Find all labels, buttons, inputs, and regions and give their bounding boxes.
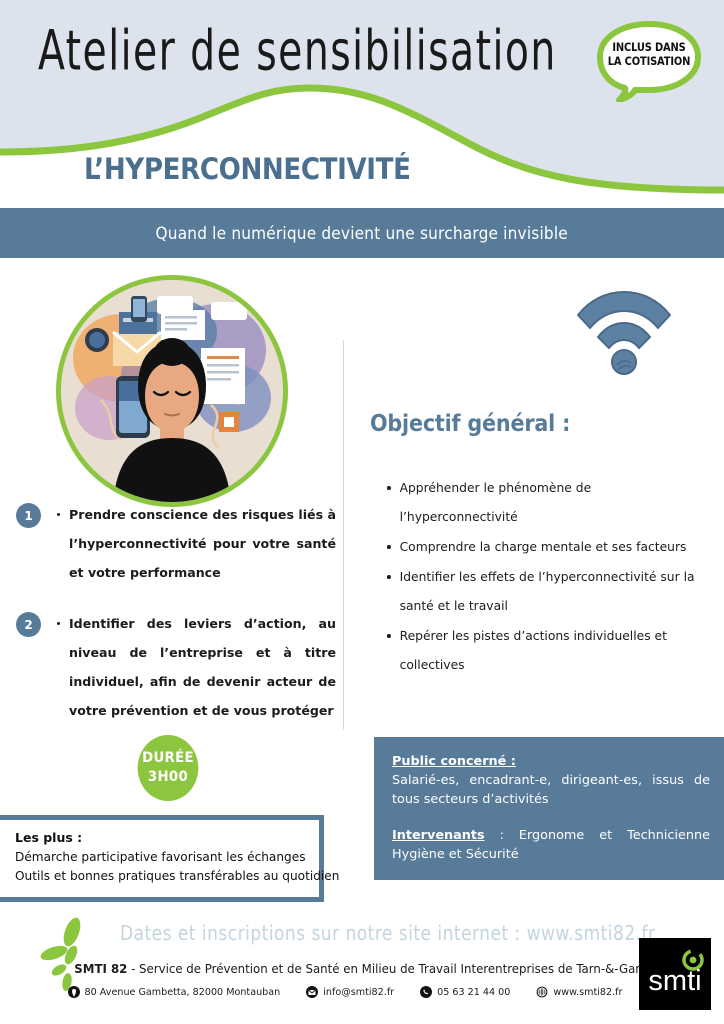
goal-item: Comprendre la charge mentale et ses fact… <box>386 532 696 561</box>
les-plus-title: Les plus : <box>15 830 307 845</box>
objective-text: Prendre conscience des risques liés à l’… <box>57 500 336 587</box>
public-concerne-box: Public concerné : Salarié-es, encadrant-… <box>374 737 724 880</box>
duration-value: 3H00 <box>148 768 188 787</box>
svg-text:smti: smti <box>648 965 701 997</box>
objective-number-badge: 2 <box>16 612 41 637</box>
contact-email[interactable]: info@smti82.fr <box>306 986 394 998</box>
goal-item: Repérer les pistes d’actions individuell… <box>386 621 696 679</box>
duration-badge: DURÉE 3H00 <box>138 735 199 801</box>
green-leaf-decoration <box>34 915 96 993</box>
wifi-icon <box>566 283 682 379</box>
badge-line-2: LA COTISATION <box>603 54 696 68</box>
intervenants-line: Intervenants : Ergonome et Technicienne … <box>392 826 710 864</box>
les-plus-line: Démarche participative favorisant les éc… <box>15 847 298 866</box>
footer-org-line: SMTI 82 - Service de Prévention et de Sa… <box>74 961 616 976</box>
smti-logo: smti <box>639 938 711 1010</box>
objectif-general-list: Appréhender le phénomène de l’hyperconne… <box>386 473 706 680</box>
subtitle-bar: Quand le numérique devient une surcharge… <box>0 208 724 258</box>
contact-email-text: info@smti82.fr <box>323 987 394 998</box>
envelope-icon <box>306 986 318 998</box>
globe-icon <box>536 986 548 998</box>
contact-website[interactable]: www.smti82.fr <box>536 986 622 998</box>
public-concerne-body: Salarié-es, encadrant-e, dirigeant-es, i… <box>392 771 710 809</box>
phone-icon <box>420 986 432 998</box>
hyperconnectivity-illustration <box>56 275 288 507</box>
goal-item: Identifier les effets de l’hyperconnecti… <box>386 562 696 620</box>
les-plus-box: Les plus : Démarche participative favori… <box>0 815 324 902</box>
contact-address-text: 80 Avenue Gambetta, 82000 Montauban <box>85 987 281 998</box>
intervenants-label: Intervenants <box>392 828 485 843</box>
column-divider <box>343 340 344 730</box>
contact-website-text: www.smti82.fr <box>553 987 622 998</box>
objective-item: 2 Identifier des leviers d’action, au ni… <box>16 609 336 725</box>
badge-line-1: INCLUS DANS <box>603 40 696 54</box>
goal-item: Appréhender le phénomène de l’hyperconne… <box>386 473 696 531</box>
objective-item: 1 Prendre conscience des risques liés à … <box>16 500 336 587</box>
objective-text: Identifier des leviers d’action, au nive… <box>57 609 336 725</box>
contact-phone-text: 05 63 21 44 00 <box>437 987 510 998</box>
footer-org-desc: - Service de Prévention et de Santé en M… <box>127 961 669 976</box>
footer-org-name: SMTI 82 <box>74 961 127 976</box>
subtitle-text: Quand le numérique devient une surcharge… <box>156 224 568 243</box>
contact-address[interactable]: 80 Avenue Gambetta, 82000 Montauban <box>68 986 281 998</box>
inclus-badge-text: INCLUS DANS LA COTISATION <box>603 40 696 68</box>
footer-cta-text: Dates et inscriptions sur notre site int… <box>120 922 620 946</box>
duration-label: DURÉE <box>142 749 194 768</box>
spacer <box>392 809 710 826</box>
page-title: L’HYPERCONNECTIVITÉ <box>84 152 411 186</box>
public-concerne-heading: Public concerné : <box>392 754 516 769</box>
contact-phone[interactable]: 05 63 21 44 00 <box>420 986 510 998</box>
workshop-title: Atelier de sensibilisation <box>38 18 537 83</box>
objective-number-badge: 1 <box>16 503 41 528</box>
les-plus-line: Outils et bonnes pratiques transférables… <box>15 866 298 885</box>
objectif-general-title: Objectif général : <box>370 411 570 437</box>
objectives-list: 1 Prendre conscience des risques liés à … <box>16 500 336 747</box>
footer-contacts: 80 Avenue Gambetta, 82000 Montauban info… <box>60 986 630 998</box>
location-pin-icon <box>68 986 80 998</box>
